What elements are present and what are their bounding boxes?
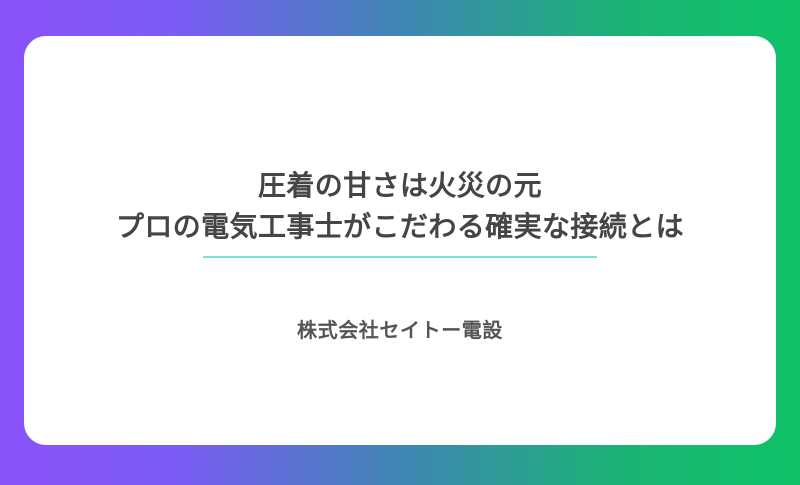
card-content: 圧着の甘さは火災の元 プロの電気工事士がこだわる確実な接続とは 株式会社セイトー… xyxy=(24,165,776,343)
title-line-1: 圧着の甘さは火災の元 xyxy=(258,165,542,206)
title-block: 圧着の甘さは火災の元 プロの電気工事士がこだわる確実な接続とは xyxy=(116,165,684,258)
title-card: 圧着の甘さは火災の元 プロの電気工事士がこだわる確実な接続とは 株式会社セイトー… xyxy=(24,36,776,445)
title-underline-rule xyxy=(203,256,597,258)
title-line-2: プロの電気工事士がこだわる確実な接続とは xyxy=(116,206,684,247)
company-name: 株式会社セイトー電設 xyxy=(297,314,503,343)
title-slide: 圧着の甘さは火災の元 プロの電気工事士がこだわる確実な接続とは 株式会社セイトー… xyxy=(0,0,800,485)
